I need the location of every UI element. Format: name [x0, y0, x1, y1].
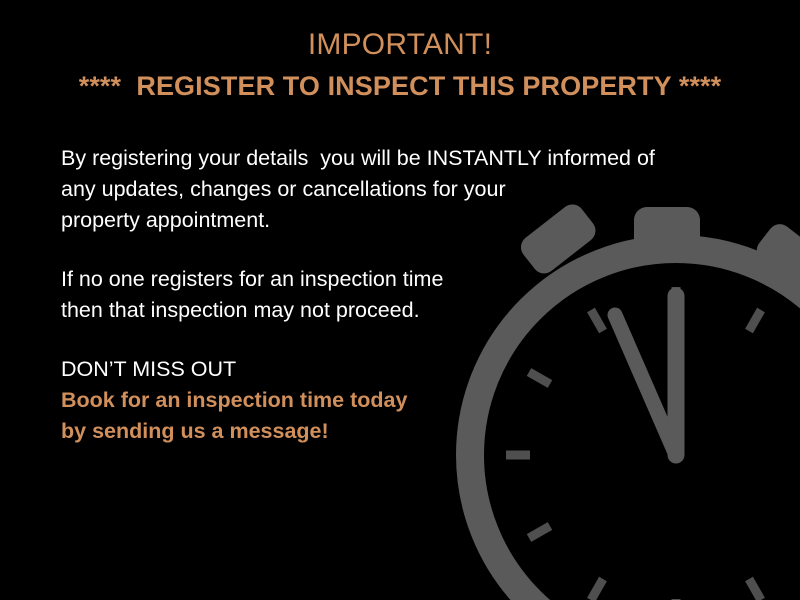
slide-canvas: IMPORTANT! **** REGISTER TO INSPECT THIS… — [0, 0, 800, 600]
paragraph-registering-details: By registering your details you will be … — [61, 143, 721, 236]
page-title: IMPORTANT! — [0, 26, 800, 64]
heading-block: IMPORTANT! **** REGISTER TO INSPECT THIS… — [0, 26, 800, 104]
page-subtitle: **** REGISTER TO INSPECT THIS PROPERTY *… — [0, 68, 800, 104]
paragraph2-line2: then that inspection may not proceed. — [61, 295, 721, 326]
paragraph1-line2: any updates, changes or cancellations fo… — [61, 174, 721, 205]
paragraph-no-registrations: If no one registers for an inspection ti… — [61, 264, 721, 326]
cta-line-book: Book for an inspection time today — [61, 385, 721, 416]
paragraph1-line1: By registering your details you will be … — [61, 143, 721, 174]
cta-headline: DON’T MISS OUT — [61, 354, 721, 385]
paragraph2-line1: If no one registers for an inspection ti… — [61, 264, 721, 295]
cta-line-message: by sending us a message! — [61, 416, 721, 447]
body-block: By registering your details you will be … — [61, 143, 721, 447]
paragraph-call-to-action: DON’T MISS OUT Book for an inspection ti… — [61, 354, 721, 447]
stopwatch-right-lug — [752, 219, 800, 298]
paragraph1-line3: property appointment. — [61, 205, 721, 236]
